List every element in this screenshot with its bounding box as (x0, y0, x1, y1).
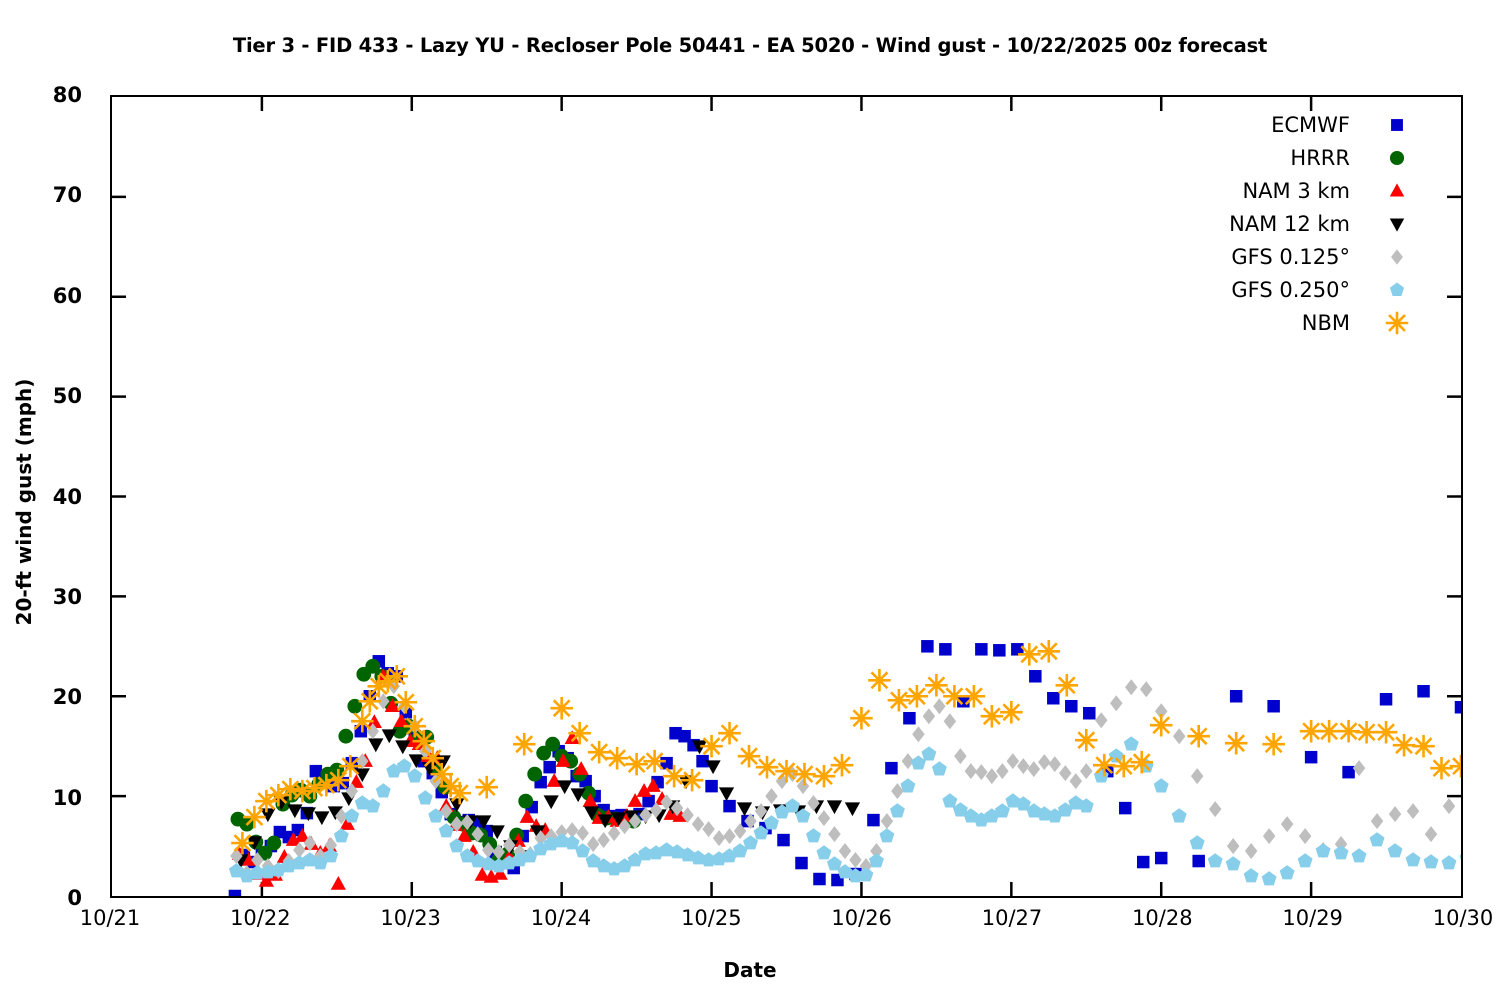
legend-marker-pentagon-icon (1384, 277, 1410, 303)
x-tick-label: 10/24 (491, 906, 631, 930)
chart-page: Tier 3 - FID 433 - Lazy YU - Recloser Po… (0, 0, 1500, 1000)
y-tick-label: 60 (12, 284, 82, 308)
legend-item-label: NBM (1302, 311, 1384, 335)
legend-marker-diamond-icon (1384, 244, 1410, 270)
legend-item-nam-12-km[interactable]: NAM 12 km (1150, 207, 1410, 240)
legend-marker-asterisk-icon (1384, 310, 1410, 336)
x-tick-label: 10/27 (942, 906, 1082, 930)
x-axis-label: Date (0, 958, 1500, 982)
legend-item-ecmwf[interactable]: ECMWF (1150, 108, 1410, 141)
legend-item-nam-3-km[interactable]: NAM 3 km (1150, 174, 1410, 207)
legend-item-label: ECMWF (1271, 113, 1384, 137)
legend-item-nbm[interactable]: NBM (1150, 306, 1410, 339)
y-tick-label: 20 (12, 685, 82, 709)
legend-marker-triangle-down-icon (1384, 211, 1410, 237)
x-tick-label: 10/21 (40, 906, 180, 930)
x-tick-label: 10/29 (1243, 906, 1383, 930)
legend-item-label: NAM 12 km (1229, 212, 1384, 236)
page-title: Tier 3 - FID 433 - Lazy YU - Recloser Po… (0, 34, 1500, 57)
y-tick-label: 10 (12, 786, 82, 810)
legend-item-label: NAM 3 km (1242, 179, 1384, 203)
x-tick-label: 10/22 (190, 906, 330, 930)
chart-legend: ECMWFHRRRNAM 3 kmNAM 12 kmGFS 0.125°GFS … (1150, 108, 1410, 339)
x-tick-label: 10/23 (341, 906, 481, 930)
legend-item-label: HRRR (1290, 146, 1384, 170)
legend-item-label: GFS 0.250° (1231, 278, 1384, 302)
legend-item-label: GFS 0.125° (1231, 245, 1384, 269)
y-tick-label: 80 (12, 83, 82, 107)
y-tick-label: 30 (12, 585, 82, 609)
legend-item-gfs-0-250-[interactable]: GFS 0.250° (1150, 273, 1410, 306)
x-tick-label: 10/30 (1393, 906, 1500, 930)
x-tick-label: 10/28 (1092, 906, 1232, 930)
legend-marker-circle-icon (1384, 145, 1410, 171)
legend-marker-square-icon (1384, 112, 1410, 138)
legend-item-gfs-0-125-[interactable]: GFS 0.125° (1150, 240, 1410, 273)
legend-marker-triangle-up-icon (1384, 178, 1410, 204)
y-tick-label: 40 (12, 485, 82, 509)
y-tick-label: 70 (12, 183, 82, 207)
x-tick-label: 10/26 (792, 906, 932, 930)
legend-item-hrrr[interactable]: HRRR (1150, 141, 1410, 174)
y-tick-label: 50 (12, 384, 82, 408)
x-tick-label: 10/25 (641, 906, 781, 930)
